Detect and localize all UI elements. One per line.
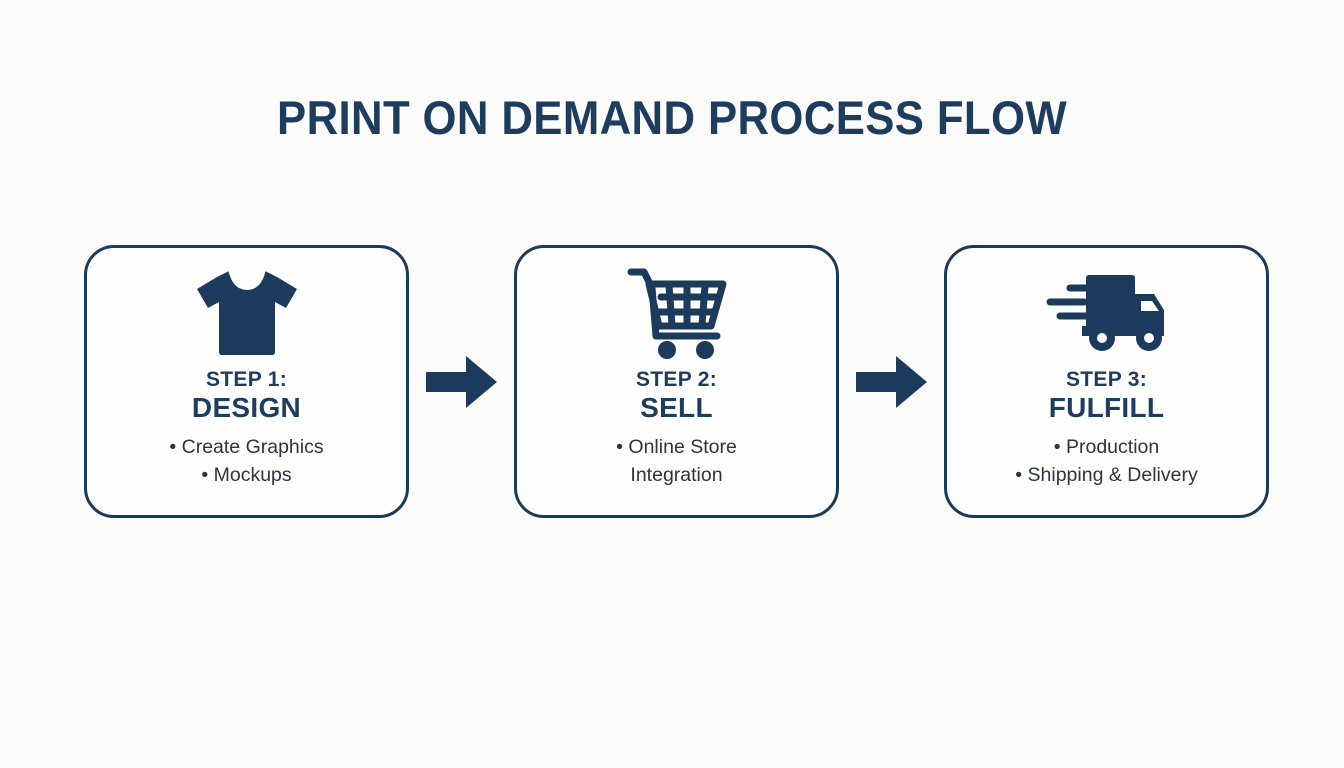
arrow-right-icon bbox=[856, 354, 928, 410]
step-bullet-list: • Online Store Integration bbox=[517, 433, 836, 490]
step-bullet-list: • Production • Shipping & Delivery bbox=[947, 433, 1266, 490]
list-item: • Shipping & Delivery bbox=[947, 461, 1266, 489]
step-card-fulfill[interactable]: STEP 3: FULFILL • Production • Shipping … bbox=[944, 245, 1269, 518]
step-eyebrow: STEP 3: bbox=[1066, 368, 1147, 393]
list-item: • Online Store Integration bbox=[517, 433, 836, 490]
step-bullet-list: • Create Graphics • Mockups bbox=[87, 433, 406, 490]
list-item: • Mockups bbox=[87, 461, 406, 489]
step-name: DESIGN bbox=[192, 393, 301, 424]
tshirt-icon bbox=[195, 264, 299, 360]
delivery-truck-icon bbox=[1046, 264, 1168, 360]
step-card-sell[interactable]: STEP 2: SELL • Online Store Integration bbox=[514, 245, 839, 518]
list-item: • Create Graphics bbox=[87, 433, 406, 461]
step-eyebrow: STEP 2: bbox=[636, 368, 717, 393]
shopping-cart-icon bbox=[625, 264, 729, 360]
step-card-design[interactable]: STEP 1: DESIGN • Create Graphics • Mocku… bbox=[84, 245, 409, 518]
step-eyebrow: STEP 1: bbox=[206, 368, 287, 393]
list-item: • Production bbox=[947, 433, 1266, 461]
page-title: PRINT ON DEMAND PROCESS FLOW bbox=[47, 92, 1297, 144]
step-name: FULFILL bbox=[1049, 393, 1165, 424]
arrow-right-icon bbox=[426, 354, 498, 410]
step-name: SELL bbox=[640, 393, 713, 424]
process-flow-row: STEP 1: DESIGN • Create Graphics • Mocku… bbox=[84, 245, 1269, 518]
